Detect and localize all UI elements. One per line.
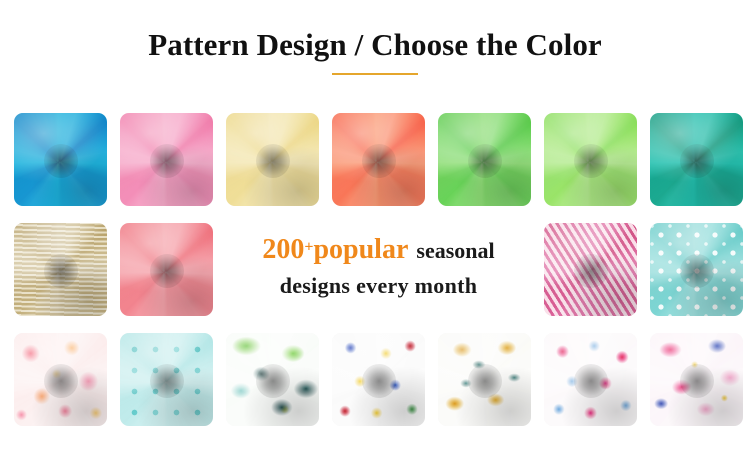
swatch-azure-blue-solid[interactable] <box>14 113 107 206</box>
swatch-khaki-heather-knit[interactable] <box>14 223 107 316</box>
swatch-teal-solid[interactable] <box>650 113 743 206</box>
swatch-drape-sheen <box>14 223 107 316</box>
swatch-butter-yellow-solid[interactable] <box>226 113 319 206</box>
banner-header: Pattern Design / Choose the Color <box>0 0 750 96</box>
swatch-coral-orange-solid[interactable] <box>332 113 425 206</box>
promo-text-block: 200+popular seasonal designs every month <box>226 223 531 316</box>
swatch-primary-daisy-print[interactable] <box>332 333 425 426</box>
swatch-drape-sheen <box>226 333 319 426</box>
swatch-drape-sheen <box>120 223 213 316</box>
promo-line-1: 200+popular seasonal <box>262 235 494 269</box>
swatch-drape-sheen <box>438 113 531 206</box>
swatch-drape-sheen <box>120 333 213 426</box>
swatch-grid: 200+popular seasonal designs every month <box>14 113 736 426</box>
swatch-pink-stripe-rib[interactable] <box>544 223 637 316</box>
swatch-drape-sheen <box>120 113 213 206</box>
swatch-drape-sheen <box>650 333 743 426</box>
promo-seasonal-word: seasonal <box>416 238 494 263</box>
swatch-drape-sheen <box>544 113 637 206</box>
swatch-rose-pink-solid[interactable] <box>120 223 213 316</box>
swatch-drape-sheen <box>650 113 743 206</box>
swatch-spring-green-solid[interactable] <box>438 113 531 206</box>
swatch-aqua-floral-print[interactable] <box>650 223 743 316</box>
swatch-poppy-floral-print[interactable] <box>544 333 637 426</box>
swatch-drape-sheen <box>544 333 637 426</box>
swatch-drape-sheen <box>438 333 531 426</box>
promo-line-2: designs every month <box>280 271 478 304</box>
title-underline-rule <box>332 73 418 75</box>
swatch-abstract-brush-print[interactable] <box>650 333 743 426</box>
swatch-drape-sheen <box>332 333 425 426</box>
swatch-drape-sheen <box>544 223 637 316</box>
swatch-mint-polka-dot-print[interactable] <box>120 333 213 426</box>
promo-subline: designs every month <box>280 273 478 298</box>
swatch-lemon-citrus-print[interactable] <box>438 333 531 426</box>
page-title: Pattern Design / Choose the Color <box>148 0 602 62</box>
pattern-design-banner: Pattern Design / Choose the Color 200+po… <box>0 0 750 457</box>
promo-popular-word: popular <box>313 234 408 265</box>
swatch-watercolor-floral-print[interactable] <box>14 333 107 426</box>
swatch-drape-sheen <box>332 113 425 206</box>
swatch-bubblegum-pink-solid[interactable] <box>120 113 213 206</box>
swatch-drape-sheen <box>14 113 107 206</box>
swatch-lime-green-solid[interactable] <box>544 113 637 206</box>
promo-count: 200 <box>262 234 304 265</box>
swatch-tropical-leaf-print[interactable] <box>226 333 319 426</box>
swatch-drape-sheen <box>14 333 107 426</box>
swatch-drape-sheen <box>650 223 743 316</box>
swatch-drape-sheen <box>226 113 319 206</box>
